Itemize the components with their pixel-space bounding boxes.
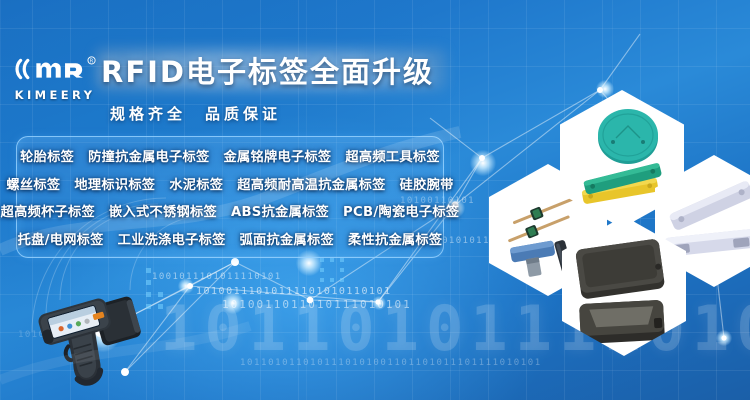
- decorative-wave: [0, 0, 750, 400]
- rfid-product-banner: 10110101111010 1001011101011110101 10100…: [0, 0, 750, 400]
